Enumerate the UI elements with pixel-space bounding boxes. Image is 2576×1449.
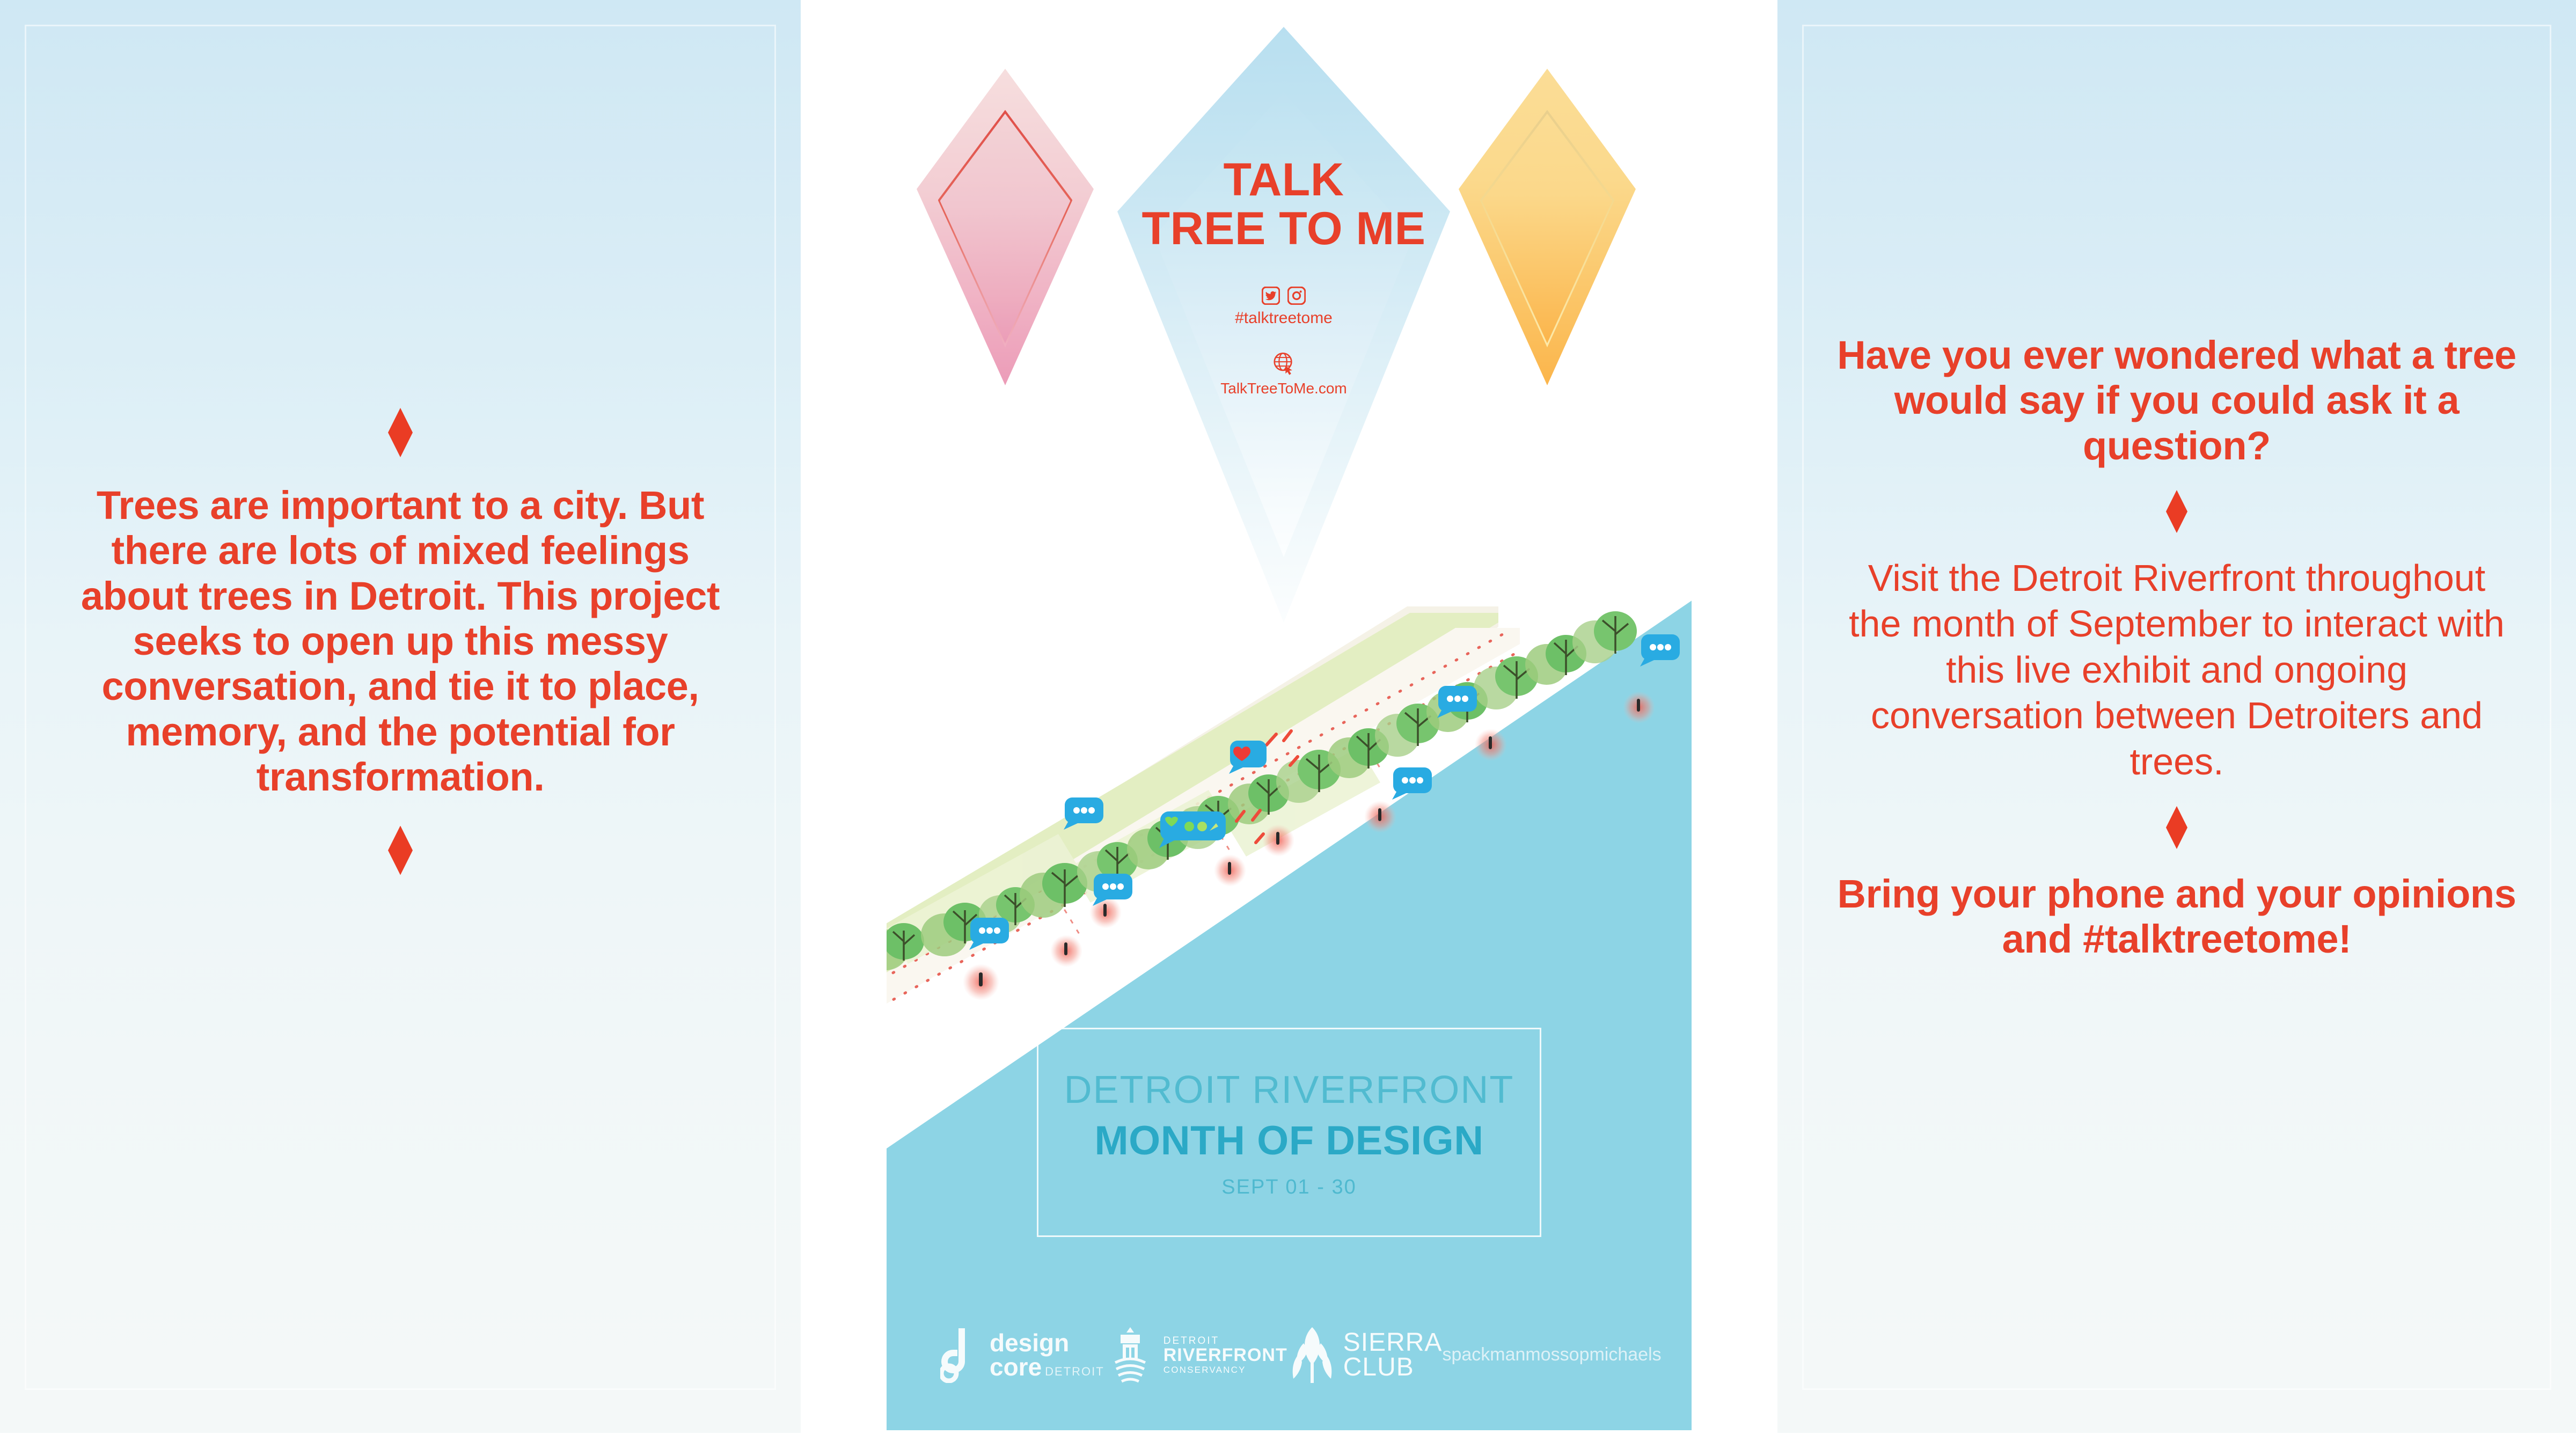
spackman-mossop-michaels-logo: spackman mossop michaels xyxy=(1442,1344,1661,1366)
event-dates: SEPT 01 - 30 xyxy=(1038,1176,1540,1199)
sierra-line-2: CLUB xyxy=(1343,1355,1443,1380)
event-name: MONTH OF DESIGN xyxy=(1038,1117,1540,1164)
event-location: DETROIT RIVERFRONT xyxy=(1038,1068,1540,1112)
detroit-riverfront-conservancy-logo: DETROIT RIVERFRONT CONSERVANCY xyxy=(1104,1325,1287,1385)
detroit-riverfront-illustration xyxy=(887,606,1692,1014)
red-rhombus-icon-divider-1 xyxy=(2166,490,2187,533)
poster-title-line-2: TREE TO ME xyxy=(1117,204,1450,253)
right-text-panel: Have you ever wondered what a tree would… xyxy=(1777,0,2576,1433)
design-core-line-1: design xyxy=(990,1331,1104,1355)
poster-title-block: TALK TREE TO ME #ta xyxy=(1117,156,1450,397)
smm-line-2: mossop xyxy=(1525,1344,1589,1366)
social-icons-row xyxy=(1117,287,1450,305)
website-label: TalkTreeToMe.com xyxy=(1117,380,1450,397)
event-info-box: DETROIT RIVERFRONT MONTH OF DESIGN SEPT … xyxy=(1037,1028,1541,1237)
design-core-detroit-logo: design coreDETROIT xyxy=(940,1327,1104,1383)
globe-click-icon[interactable] xyxy=(1117,351,1450,376)
drc-line-3: CONSERVANCY xyxy=(1163,1365,1287,1375)
poster-title-line-1: TALK xyxy=(1117,156,1450,204)
red-rhombus-icon-bottom-left xyxy=(388,826,413,875)
right-panel-headline: Have you ever wondered what a tree would… xyxy=(1826,333,2528,469)
yellow-diamond-shape xyxy=(1459,69,1636,385)
right-panel-body: Visit the Detroit Riverfront throughout … xyxy=(1842,555,2512,785)
design-core-line-2: core xyxy=(990,1353,1042,1381)
red-rhombus-icon-top-left xyxy=(388,408,413,457)
twitter-icon[interactable] xyxy=(1262,287,1280,305)
left-text-panel: Trees are important to a city. But there… xyxy=(0,0,801,1433)
design-core-sub: DETROIT xyxy=(1045,1365,1104,1378)
pink-diamond-shape xyxy=(917,69,1094,385)
sponsor-logo-strip: design coreDETROIT xyxy=(940,1309,1638,1401)
instagram-icon[interactable] xyxy=(1287,287,1306,305)
left-panel-paragraph: Trees are important to a city. But there… xyxy=(54,483,747,800)
red-rhombus-icon-divider-2 xyxy=(2166,806,2187,849)
sierra-line-1: SIERRA xyxy=(1343,1330,1443,1355)
smm-line-1: spackman xyxy=(1442,1344,1525,1366)
hashtag-label: #talktreetome xyxy=(1117,309,1450,327)
right-panel-cta: Bring your phone and your opinions and #… xyxy=(1836,872,2517,962)
sierra-club-logo: SIERRA CLUB xyxy=(1287,1325,1443,1385)
drc-line-2: RIVERFRONT xyxy=(1163,1346,1287,1365)
smm-line-3: michaels xyxy=(1589,1344,1661,1366)
poster-board: Trees are important to a city. But there… xyxy=(0,0,2576,1449)
talk-tree-to-me-poster: TALK TREE TO ME #ta xyxy=(887,0,1692,1430)
